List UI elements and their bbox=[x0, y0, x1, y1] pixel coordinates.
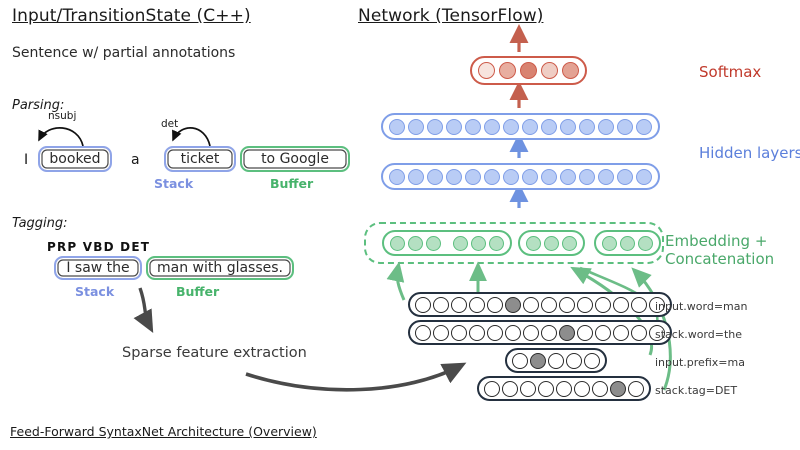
feature-unit-0-10 bbox=[595, 297, 611, 313]
feature-label-stack-word: stack.word=the bbox=[655, 328, 742, 341]
feature-unit-3-8 bbox=[628, 381, 644, 397]
feature-unit-3-1 bbox=[502, 381, 518, 397]
feature-unit-2-1 bbox=[530, 353, 546, 369]
feature-unit-0-7 bbox=[541, 297, 557, 313]
feature-unit-3-2 bbox=[520, 381, 536, 397]
feature-unit-3-6 bbox=[592, 381, 608, 397]
feature-unit-1-9 bbox=[577, 325, 593, 341]
feature-unit-1-2 bbox=[451, 325, 467, 341]
feature-unit-1-0 bbox=[415, 325, 431, 341]
feature-row-stack-tag bbox=[477, 376, 651, 401]
feature-unit-3-5 bbox=[574, 381, 590, 397]
feature-unit-1-6 bbox=[523, 325, 539, 341]
feature-unit-0-9 bbox=[577, 297, 593, 313]
feature-label-input-prefix: input.prefix=ma bbox=[655, 356, 745, 369]
feature-row-input-prefix bbox=[505, 348, 607, 373]
feature-unit-0-12 bbox=[631, 297, 647, 313]
feature-unit-0-11 bbox=[613, 297, 629, 313]
feature-unit-1-8 bbox=[559, 325, 575, 341]
feature-unit-0-0 bbox=[415, 297, 431, 313]
feature-unit-2-3 bbox=[566, 353, 582, 369]
feature-unit-3-4 bbox=[556, 381, 572, 397]
feature-unit-1-5 bbox=[505, 325, 521, 341]
feature-unit-2-2 bbox=[548, 353, 564, 369]
feature-row-stack-word bbox=[408, 320, 672, 345]
feature-unit-0-2 bbox=[451, 297, 467, 313]
feature-unit-1-3 bbox=[469, 325, 485, 341]
feature-unit-3-3 bbox=[538, 381, 554, 397]
feature-label-input-word: input.word=man bbox=[655, 300, 747, 313]
feature-unit-0-8 bbox=[559, 297, 575, 313]
feature-unit-1-4 bbox=[487, 325, 503, 341]
feature-unit-0-4 bbox=[487, 297, 503, 313]
feature-unit-1-12 bbox=[631, 325, 647, 341]
feature-to-embedding-arrows bbox=[0, 0, 800, 450]
feature-unit-3-7 bbox=[610, 381, 626, 397]
feature-unit-2-0 bbox=[512, 353, 528, 369]
feature-unit-0-3 bbox=[469, 297, 485, 313]
feature-unit-1-11 bbox=[613, 325, 629, 341]
feature-unit-1-7 bbox=[541, 325, 557, 341]
feature-unit-1-1 bbox=[433, 325, 449, 341]
feature-unit-0-6 bbox=[523, 297, 539, 313]
figure-caption: Feed-Forward SyntaxNet Architecture (Ove… bbox=[10, 424, 317, 439]
feature-row-input-word bbox=[408, 292, 672, 317]
feature-unit-1-10 bbox=[595, 325, 611, 341]
feature-unit-0-5 bbox=[505, 297, 521, 313]
feature-unit-3-0 bbox=[484, 381, 500, 397]
feature-label-stack-tag: stack.tag=DET bbox=[655, 384, 737, 397]
feature-unit-2-4 bbox=[584, 353, 600, 369]
feature-unit-0-1 bbox=[433, 297, 449, 313]
